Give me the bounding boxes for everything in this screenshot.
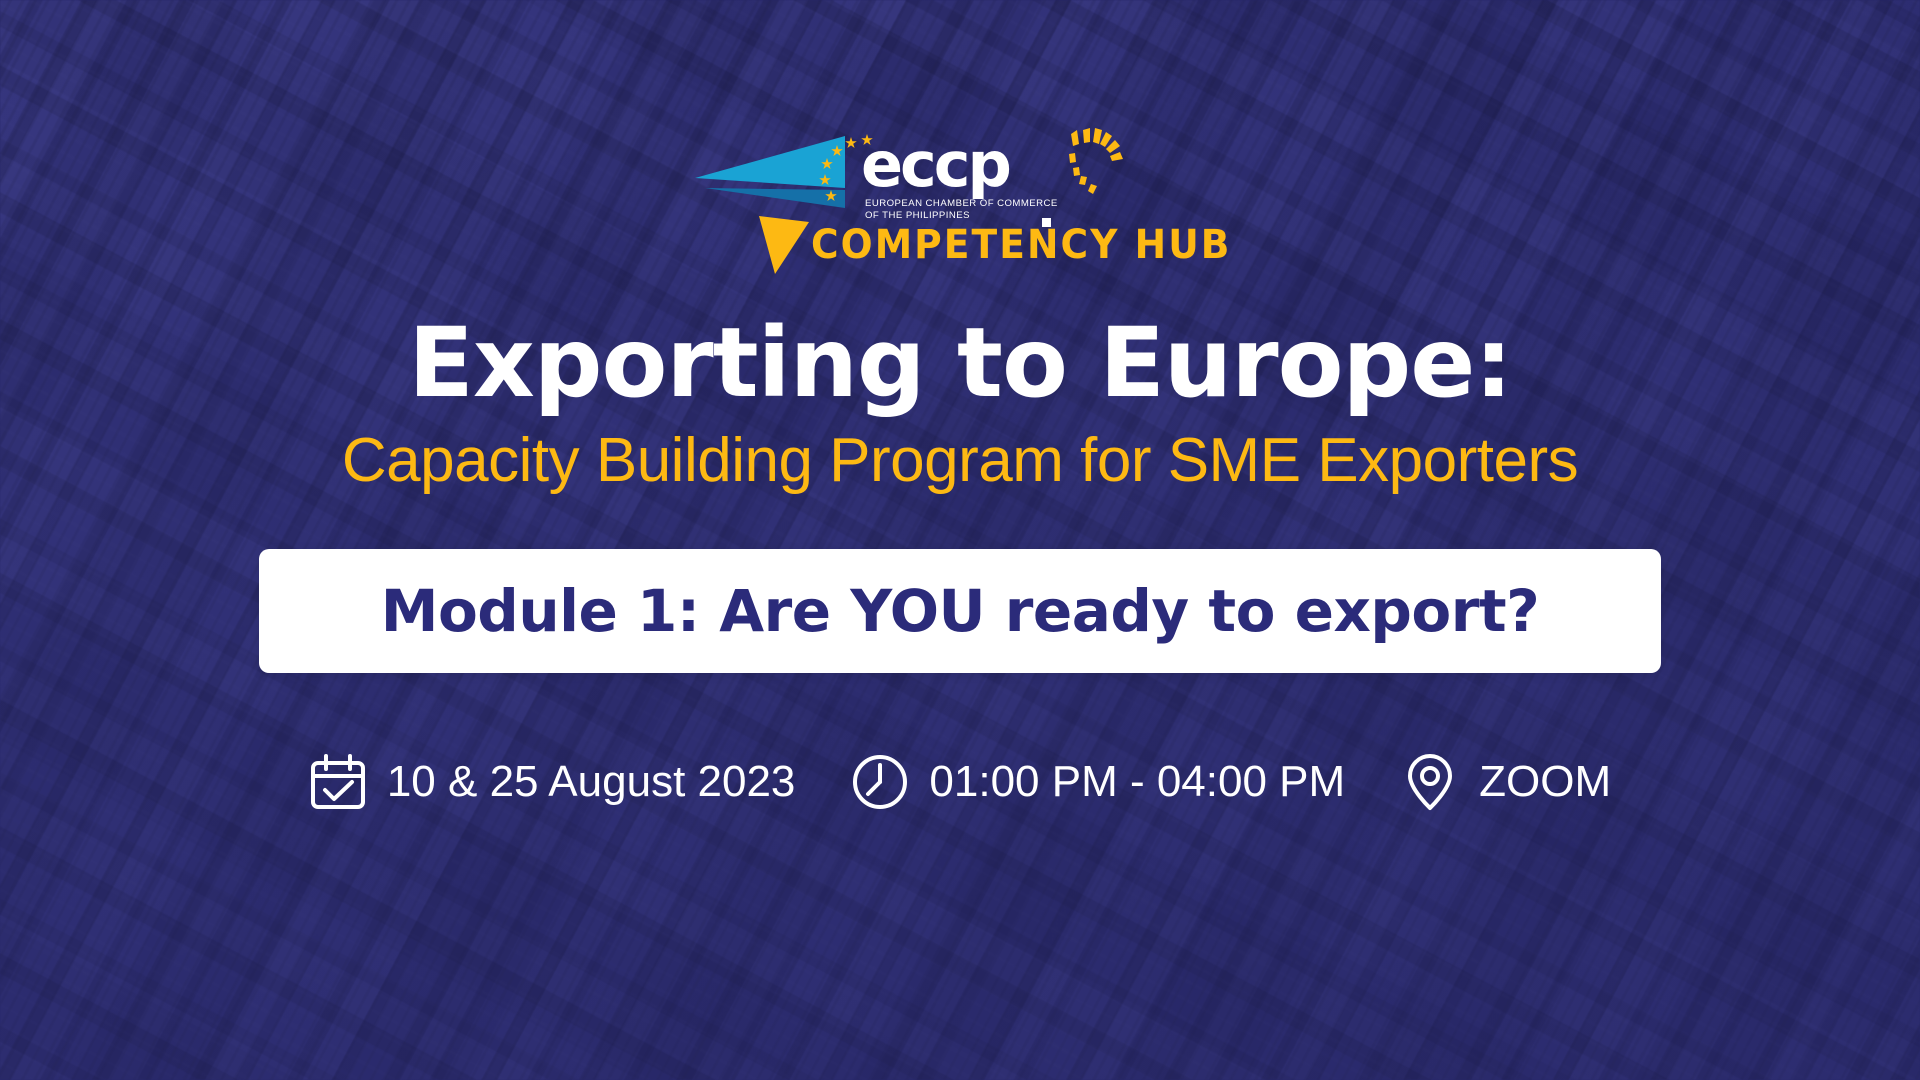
competency-hub-text: COMPETENCY HUB <box>811 225 1232 265</box>
event-date-label: 10 & 25 August 2023 <box>387 760 796 804</box>
clock-icon <box>851 753 909 811</box>
eccp-competency-hub-logo: eccp EUROPEAN CHAMBER OF COMMERCE OF THE… <box>695 128 1225 254</box>
sunburst-icon <box>1067 128 1127 208</box>
module-banner: Module 1: Are YOU ready to export? <box>259 549 1661 673</box>
eccp-wordmark: eccp <box>861 134 1009 196</box>
location-pin-icon <box>1401 753 1459 811</box>
event-location: ZOOM <box>1401 753 1611 811</box>
event-time-label: 01:00 PM - 04:00 PM <box>929 760 1345 804</box>
page-title: Exporting to Europe: <box>408 314 1512 414</box>
module-label: Module 1: Are YOU ready to export? <box>381 582 1540 640</box>
event-banner: eccp EUROPEAN CHAMBER OF COMMERCE OF THE… <box>0 0 1920 1080</box>
yellow-triangle-icon <box>755 214 811 276</box>
competency-hub-lockup: COMPETENCY HUB <box>755 214 1258 276</box>
page-subtitle: Capacity Building Program for SME Export… <box>342 428 1578 495</box>
banner-content: eccp EUROPEAN CHAMBER OF COMMERCE OF THE… <box>0 0 1920 1080</box>
event-time: 01:00 PM - 04:00 PM <box>851 753 1345 811</box>
event-details-row: 10 & 25 August 2023 01:00 PM - 04:00 PM … <box>309 753 1611 811</box>
calendar-check-icon <box>309 753 367 811</box>
event-date: 10 & 25 August 2023 <box>309 753 796 811</box>
event-location-label: ZOOM <box>1479 760 1611 804</box>
